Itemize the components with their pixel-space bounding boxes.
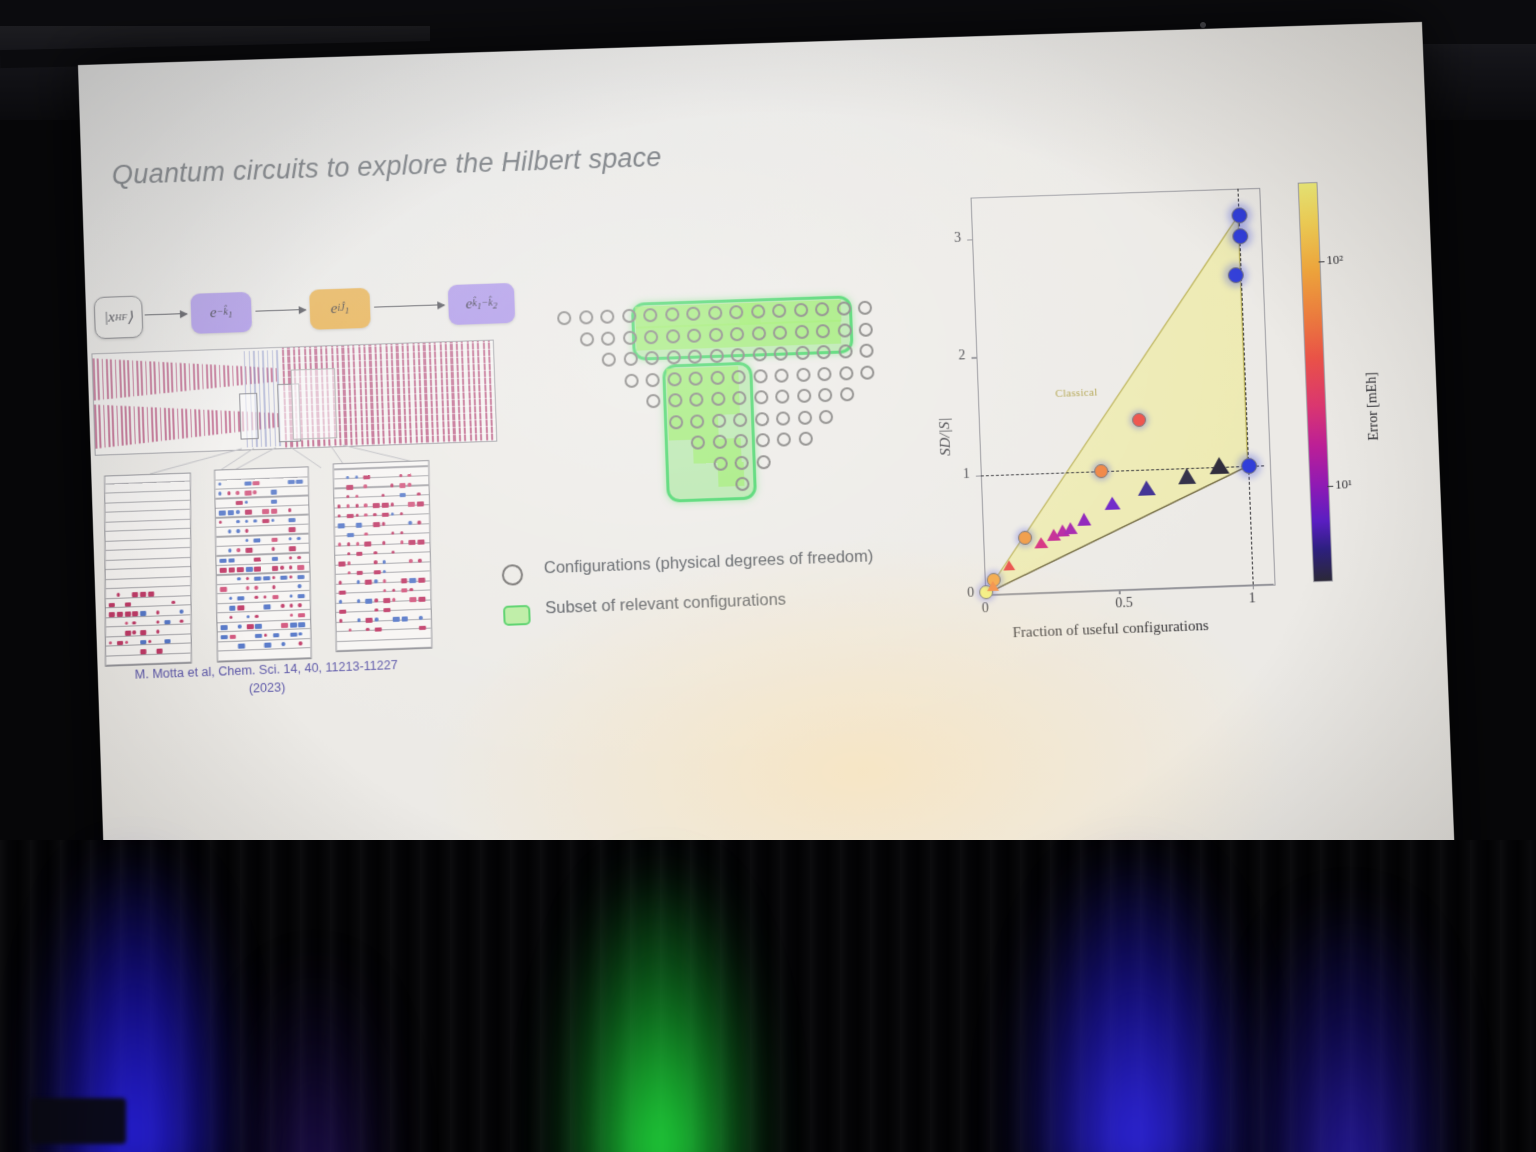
configuration-circle [600,309,615,323]
circuit-gate-mark [271,547,274,551]
configuration-circle [776,411,790,425]
circuit-gate-mark [255,595,258,599]
circuit-arrow-1 [145,313,187,316]
circuit-gate-mark [164,620,170,625]
circuit-gate-mark [229,606,236,611]
circuit-gate-mark [409,540,416,545]
circuit-gate-mark [254,538,261,543]
circuit-gate-mark [355,523,362,528]
configuration-circle [839,387,853,401]
configuration-circle [712,435,726,449]
x-tick-label: 0.5 [1115,596,1133,613]
colorbar-tick [1327,486,1333,488]
circuit-gate-mark [355,475,358,479]
configuration-circle [774,368,788,382]
circuit-gate-mark [366,599,373,604]
circuit-gate-mark [238,644,245,649]
y-tick-label: 3 [954,230,962,246]
circuit-gate-mark [262,509,269,514]
circuit-gate-mark [390,484,393,488]
configuration-circle [860,365,874,379]
configuration-circle [795,346,809,360]
configuration-circle [751,326,765,340]
y-tick [976,476,981,477]
configuration-circle [838,344,852,358]
circuit-gate-mark [288,508,291,512]
circuit-gate-mark [255,586,258,590]
configuration-circle [756,454,770,468]
circuit-gate-mark [409,559,412,563]
configuration-circle [817,366,831,380]
configuration-circle [690,414,704,428]
circuit-gate-mark [109,612,115,617]
circuit-gate-mark [298,603,301,607]
configuration-circle [754,412,768,426]
configuration-circle [816,345,830,359]
circuit-gate-mark [236,510,239,514]
scatter-chart: 012300.51Classical SD/|S| Fraction of us… [908,175,1363,668]
circuit-gate-mark [298,565,305,570]
configuration-circle [711,413,725,427]
colorbar-tick-label: 10² [1326,252,1343,268]
circuit-gate-mark [238,605,245,610]
circuit-gate-mark [418,578,425,583]
circuit-gate-mark [245,529,248,533]
circuit-gate-mark [299,632,302,636]
circuit-gate-mark [382,541,385,545]
circuit-gate-mark [347,561,350,565]
configuration-circle [731,348,745,362]
circuit-gate-mark [392,617,399,622]
configuration-circle [818,388,832,402]
circuit-gate-mark [264,605,271,610]
circuit-gate-mark [229,615,232,619]
configuration-circle [730,326,744,340]
circuit-gate-mark [228,530,231,534]
configuration-circle [750,304,764,318]
circuit-gate-mark [366,628,369,632]
circuit-gate-mark [373,522,380,527]
y-tick-label: 0 [967,586,975,602]
configuration-circle [819,409,833,423]
configuration-circle [797,389,811,403]
circuit-gate-mark [220,587,227,592]
circuit-gate-mark [254,567,261,572]
circuit-gate-mark [408,473,411,477]
circuit-gate-mark [140,630,146,635]
circuit-gate-mark [382,503,389,508]
circuit-gate-mark [227,510,234,515]
circuit-gate-mark [419,597,426,602]
circuit-gate-mark [399,474,402,478]
circuit-gate-mark [374,551,377,555]
circuit-gate-mark [219,511,226,516]
circuit-gate-mark [357,618,360,622]
configuration-circle [859,343,873,357]
circuit-gate-mark [273,633,280,638]
circuit-gate-mark [132,621,135,625]
configuration-circle [667,372,681,386]
circuit-gate-mark [253,490,256,494]
configuration-circle [733,412,747,426]
data-point-triangle [1138,480,1156,496]
circuit-gate-mark [228,558,235,563]
circuit-gate-mark [238,625,241,629]
circuit-gate-mark [180,610,183,614]
circuit-gate-mark [236,529,239,533]
circuit-gate-mark [399,493,406,498]
configuration-circle [816,324,830,338]
data-point-triangle [1178,468,1196,485]
circuit-gate-mark [365,542,372,547]
circuit-gate-mark [400,540,403,544]
circuit-gate-mark [409,578,416,583]
circuit-zoom-marker-3 [291,368,338,440]
circuit-gate-mark [140,611,146,616]
circuit-gate-mark [272,585,275,589]
configuration-circle [793,303,807,317]
circuit-gate-mark [246,586,249,590]
circuit-gate-mark [270,490,277,495]
configuration-circle [731,369,745,383]
circuit-gate-mark [254,576,261,581]
circuit-gate-mark [382,522,385,526]
configuration-circle [644,329,658,343]
configuration-circle [711,392,725,406]
data-point-triangle [1077,512,1091,525]
circuit-gate-4: ek̂1−k̂2 [448,283,516,325]
circuit-gate-mark [271,499,278,504]
circuit-gate-2: e−k̂1 [190,292,252,334]
circuit-detail-panel-3 [333,460,433,652]
configuration-circle [687,328,701,342]
circuit-gate-mark [409,521,412,525]
circuit-gate-mark [419,616,422,620]
circuit-gate-mark [255,624,262,629]
circuit-gate-mark [410,597,417,602]
circuit-gate-mark [356,542,359,546]
circuit-gate-mark [229,596,232,600]
circuit-gate-mark [280,575,287,580]
circuit-gate-mark [220,568,227,573]
configuration-circle [797,410,811,424]
circuit-gate-mark [401,578,408,583]
circuit-gate-mark [355,504,358,508]
circuit-gate-mark [117,612,123,617]
circuit-gate-mark [172,600,175,604]
circuit-gate-mark [364,513,367,517]
circuit-gate-mark [383,598,390,603]
configuration-circle [753,369,767,383]
circuit-gate-mark [272,566,279,571]
photo-scene: Quantum circuits to explore the Hilbert … [0,0,1536,1152]
circuit-gate-mark [297,537,300,541]
configuration-circle [773,346,787,360]
circuit-gate-mark [228,568,235,573]
circuit-gate-mark [298,613,305,618]
chart-marks: 012300.51Classical [908,175,1344,190]
configuration-circle [798,432,812,446]
circuit-gate-mark [245,548,252,553]
circuit-detail-panel-1 [104,472,192,666]
circuit-gate-mark [236,500,243,505]
circuit-gate-mark [117,641,123,646]
configuration-circle [622,330,637,344]
configuration-circle [665,329,679,343]
configuration-circle [775,389,789,403]
configuration-circle [624,373,639,387]
circuit-gate-mark [337,505,340,509]
circuit-gate-mark [221,635,228,640]
circuit-gate-mark [132,611,138,616]
circuit-gate-3: eiĴ1 [309,288,371,330]
configuration-circle [708,306,722,320]
configuration-circle [602,352,617,366]
circuit-gate-mark [410,588,413,592]
circuit-gate-mark [366,618,373,623]
circuit-gate-mark [254,519,257,523]
circuit-gate-mark [364,504,367,508]
circuit-gate-mark [289,546,296,551]
configuration-circle [668,415,683,429]
configuration-circle [645,351,659,365]
circuit-gate-mark [125,631,131,636]
circuit-gate-mark [288,527,295,532]
circuit-gate-mark [262,519,269,524]
circuit-gate-mark [399,483,406,488]
circuit-gate-mark [392,598,395,602]
circuit-gate-mark [125,640,128,644]
circuit-gate-mark [375,627,382,632]
circuit-gate-mark [255,633,262,638]
circuit-gate-mark [364,475,371,480]
circuit-gate-mark [272,595,279,600]
circuit-gate-mark [219,558,226,563]
configuration-circle [601,331,616,345]
circuit-gate-mark [271,509,278,514]
circuit-gate-mark [375,608,378,612]
circuit-gate-mark [281,623,288,628]
circuit-gate-mark [109,603,115,608]
colorbar-tick-label: 10¹ [1335,476,1352,493]
circuit-gate-mark [280,566,283,570]
circuit-gate-mark [296,479,303,484]
circuit-gate-mark [245,510,252,515]
data-point-triangle [1104,497,1120,511]
podium-silhouette [30,1098,126,1144]
circuit-gate-mark [236,520,239,524]
circuit-gate-mark [299,642,302,646]
chart-annotation-classical: Classical [1055,386,1098,399]
circuit-gate-mark [244,481,251,486]
circuit-gate-mark [148,592,154,597]
circuit-gate-mark [374,560,377,564]
circuit-gate-mark [338,543,341,547]
legend-label: Configurations (physical degrees of free… [544,547,874,578]
circuit-gate-mark [236,491,239,495]
circuit-gate-mark [356,570,363,575]
circuit-gate-mark [229,634,236,639]
configuration-circle [796,367,810,381]
circuit-detail-panel-2 [214,466,312,662]
x-tick-label: 1 [1249,591,1257,607]
circuit-gate-mark [237,548,240,552]
configuration-circle [752,347,766,361]
circuit-gate-mark [339,590,346,595]
circuit-gate-mark [281,642,284,646]
circuit-gate-mark [237,596,244,601]
circuit-gate-mark [271,518,274,522]
circuit-gate-mark [255,614,258,618]
circuit-gate-mark [347,533,354,538]
circuit-gate-mark [417,502,424,507]
circuit-gate-mark [347,542,350,546]
circuit-gate-mark [357,599,360,603]
circuit-gate-mark [356,580,359,584]
circuit-gate-mark [400,531,403,535]
configuration-circle [623,352,638,366]
circle-outline-icon [502,564,524,586]
circuit-gate-mark [408,502,415,507]
configuration-circle [646,394,661,408]
y-axis-label: SD/|S| [937,417,955,456]
circuit-gate-mark [221,625,228,630]
circuit-gate-mark [140,640,146,645]
circuit-gate-mark [281,604,284,608]
circuit-gate-mark [125,612,131,617]
circuit-gate-mark [346,514,353,519]
circuit-gate-mark [298,584,301,588]
circuit-gate-mark [133,631,136,635]
configuration-circle [836,301,850,315]
configuration-circle [579,332,594,346]
circuit-gate-mark [288,518,295,523]
data-point-triangle [1209,456,1229,474]
configuration-circle [710,370,724,384]
panel-wires [105,474,191,666]
circuit-gate-mark [338,523,345,528]
circuit-gate-mark [254,557,261,562]
y-tick-label: 2 [958,349,966,365]
circuit-gate-mark [164,639,170,644]
configuration-circle [579,310,594,324]
configuration-circle [777,432,791,446]
circuit-gate-mark [401,617,408,622]
x-tick [1119,589,1120,594]
configuration-circle [773,325,787,339]
legend: Configurations (physical degrees of free… [501,544,934,640]
circuit-gate-mark [117,593,120,597]
data-point-triangle [987,580,999,590]
configuration-circle [708,327,722,341]
page-title: Quantum circuits to explore the Hilbert … [111,142,662,191]
circuit-gate-mark [365,580,372,585]
circuit-arrow-3 [374,304,444,308]
circuit-gate-mark [237,577,240,581]
configuration-circle [665,307,679,321]
colorbar-label: Error [mEh] [1364,372,1383,441]
y-tick-label: 1 [963,467,971,483]
configuration-circle [859,322,873,336]
configuration-array [557,300,905,532]
circuit-gate-mark [288,480,295,485]
circuit-gate-mark [253,481,260,486]
circuit-gate-mark [417,521,420,525]
configuration-circle [794,324,808,338]
circuit-gate-mark [290,632,297,637]
circuit-gate-mark [156,649,162,654]
circuit-gate-mark [298,575,305,580]
circuit-gate-mark [356,551,363,556]
circuit-gate-mark [156,611,159,615]
circuit-gate-mark [382,512,389,517]
circuit-gate-mark [408,483,411,487]
data-point-triangle [1003,561,1015,571]
configuration-circle [688,371,702,385]
configuration-circle [557,311,572,325]
circuit-gate-mark [125,621,128,625]
x-tick [1252,584,1253,589]
circuit-gate-mark [272,576,275,580]
circuit-gate-mark [228,549,231,553]
configuration-circle [713,456,727,470]
circuit-gate-mark [374,570,381,575]
green-square-icon [503,605,531,626]
circuit-gate-mark [364,532,367,536]
y-tick [967,239,972,240]
circuit-gate-mark [264,643,271,648]
circuit-gate-mark [180,619,183,623]
circuit-gate-mark [299,622,306,627]
circuit-gate-mark [418,559,421,563]
circuit-gate-mark [400,512,403,516]
colorbar-tick [1319,261,1325,263]
circuit-gate-mark [289,566,292,570]
circuit-gate-mark [373,513,376,517]
circuit-gate-mark [346,504,349,508]
circuit-arrow-2 [255,309,305,312]
circuit-gate-1: |xHF⟩ [94,295,144,339]
circuit-gate-mark [355,494,358,498]
circuit-gate-mark [374,580,377,584]
circuit-zoom-marker-1 [239,393,259,440]
circuit-gate-mark [140,592,146,597]
circuit-gate-mark [401,588,408,593]
configuration-circle [645,372,660,386]
configuration-circle [666,350,680,364]
configuration-circle [734,455,748,469]
circuit-gate-mark [263,576,270,581]
circuit-gate-mark [244,491,251,496]
configuration-circle [622,309,636,323]
circuit-gate-mark [237,567,244,572]
circuit-gate-mark [373,503,380,508]
configuration-circle [668,393,682,407]
data-point-triangle [1063,522,1077,534]
circuit-gate-mark [364,485,367,489]
circuit-gate-mark [227,491,230,495]
circuit-gate-mark [246,567,253,572]
configuration-circle [754,390,768,404]
circuit-gate-mark [271,537,278,542]
circuit-gate-mark [297,556,300,560]
circuit-gate-mark [290,623,297,628]
full-circuit-strip [91,340,497,456]
circuit-gate-mark [417,492,420,496]
circuit-gate-mark [419,625,426,630]
circuit-gate-mark [374,599,377,603]
configuration-circle [688,349,702,363]
